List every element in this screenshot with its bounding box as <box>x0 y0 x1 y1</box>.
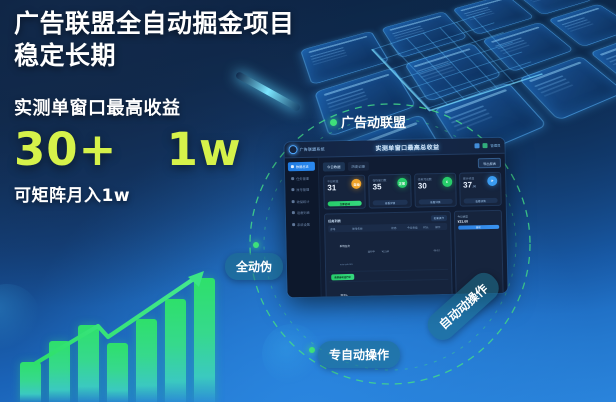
promo-banner: 广告联盟全自动掘金项目 稳定长期 实测单窗口最高收益 30+ 1w 可矩阵月入1… <box>0 0 616 402</box>
stat-card: 今日收益31自动立即启动 <box>323 175 366 210</box>
sidebar-item[interactable]: 任务管理 <box>288 173 315 183</box>
dashboard-tabs: 今日数据历史记录 导出报表 <box>323 158 501 172</box>
row-name: 系统任务 <box>340 245 350 248</box>
batch-action-button[interactable]: 批量操作 <box>431 215 447 221</box>
dashboard-tab[interactable]: 今日数据 <box>323 162 345 171</box>
dashboard-screenshot: 广告联盟系统 实测单窗口最高总收益 管理员 数据总览任务管理账号管理收益统计设备… <box>284 138 507 298</box>
stat-card: 任务完成数30C查看详情 <box>414 173 457 208</box>
table-column-header: 序号 <box>330 226 350 230</box>
sidebar-item-label: 系统设置 <box>297 221 310 226</box>
chart-bar <box>78 325 99 402</box>
sidebar-item-label: 账号管理 <box>296 187 309 192</box>
table-column-header: 操作 <box>435 224 445 228</box>
dashboard-sidebar: 数据总览任务管理账号管理收益统计设备列表系统设置 <box>285 158 322 298</box>
stat-card-button[interactable]: 查看详情 <box>418 199 452 205</box>
ring-dot-left <box>253 242 259 248</box>
headline-line-1: 广告联盟全自动掘金项目 <box>14 9 295 38</box>
stat-card: 在线窗口数35正常查看详情 <box>368 174 411 209</box>
chart-bar <box>107 343 128 402</box>
badge-ad-alliance: 广告动联盟 <box>341 112 406 131</box>
sidebar-item-label: 收益统计 <box>297 198 310 203</box>
chart-bar <box>165 299 186 402</box>
table-column-header: 时长 <box>423 225 433 229</box>
app-logo: 广告联盟系统 <box>284 144 340 154</box>
bullet-icon <box>292 211 295 214</box>
row-duration: 06:12 <box>434 249 446 252</box>
subtitle: 实测单窗口最高收益 <box>14 94 354 120</box>
dashboard-title: 实测单窗口最高总收益 <box>340 141 474 153</box>
number-second: 1w <box>167 123 242 176</box>
table-body: 系统任务auto-task-001运行中¥12.8006:12全部自动运行中账号… <box>328 231 452 297</box>
badge-full-auto: 全动伪 <box>225 253 283 280</box>
logo-text: 广告联盟系统 <box>299 146 324 153</box>
table-column-header: 今日收益 <box>407 225 421 229</box>
bullet-icon <box>291 188 294 191</box>
dashboard-tab[interactable]: 历史记录 <box>347 161 369 170</box>
summary-value: ¥31.00 <box>458 218 499 223</box>
row-status-pill: 全部自动运行中 <box>331 273 354 279</box>
bullet-icon <box>291 177 294 180</box>
table-column-header: 状态 <box>391 225 405 229</box>
task-table: 任务列表 批量操作 序号账号名称状态今日收益时长操作 系统任务auto-task… <box>324 211 457 297</box>
badge-auto-operate: 专自动操作 <box>318 341 400 368</box>
growth-chart <box>20 262 240 402</box>
stat-card-button[interactable]: 立即启动 <box>328 201 362 207</box>
sidebar-item-label: 设备列表 <box>297 210 310 215</box>
bullet-icon <box>292 200 295 203</box>
table-title: 任务列表 <box>328 218 341 223</box>
table-row[interactable]: 系统任务auto-task-001运行中¥12.8006:12 <box>328 231 448 273</box>
export-button[interactable]: 导出报表 <box>478 158 501 168</box>
gear-icon[interactable] <box>482 143 487 148</box>
sidebar-item-label: 任务管理 <box>296 175 309 180</box>
sidebar-item[interactable]: 系统设置 <box>289 219 316 229</box>
titlebar-icons: 管理员 <box>474 143 504 149</box>
shuffle-icon[interactable] <box>474 143 479 148</box>
row-status: 运行中 <box>368 250 380 254</box>
bullet-icon <box>292 223 295 226</box>
stat-card-row: 今日收益31自动立即启动在线窗口数35正常查看详情任务完成数30C查看详情累计收… <box>323 172 502 210</box>
summary-button[interactable]: 提现 <box>458 224 499 229</box>
stat-card-button[interactable]: 查看详情 <box>373 200 407 206</box>
ring-dot-top <box>330 119 337 126</box>
stat-badge-icon: C <box>442 177 452 187</box>
ring-dot-bottom <box>309 347 315 353</box>
sidebar-item-label: 数据总览 <box>296 164 309 169</box>
row-earnings: ¥12.80 <box>382 249 432 253</box>
stat-card-button[interactable]: 查看详情 <box>463 198 497 204</box>
chart-bar <box>20 362 41 402</box>
number-main: 30+ <box>14 123 117 176</box>
logo-icon <box>288 145 297 154</box>
headline-line-2: 稳定长期 <box>14 40 354 72</box>
sidebar-item[interactable]: 账号管理 <box>288 185 315 195</box>
chart-bar <box>136 319 157 402</box>
bullet-icon <box>291 165 294 168</box>
table-column-header: 账号名称 <box>352 226 389 231</box>
page-title: 广告联盟全自动掘金项目 稳定长期 <box>14 8 354 72</box>
sidebar-item[interactable]: 收益统计 <box>289 196 316 206</box>
sidebar-item[interactable]: 设备列表 <box>289 208 316 218</box>
chart-bars <box>20 270 240 402</box>
sidebar-item[interactable]: 数据总览 <box>288 162 315 172</box>
chart-bar <box>194 278 215 402</box>
stat-badge-icon: 正常 <box>397 178 407 188</box>
user-label[interactable]: 管理员 <box>490 143 500 148</box>
chart-bar <box>49 341 70 402</box>
stat-card: 累计收益37.00⟳查看详情 <box>459 172 502 207</box>
row-subtitle: auto-task-001 <box>340 264 353 266</box>
